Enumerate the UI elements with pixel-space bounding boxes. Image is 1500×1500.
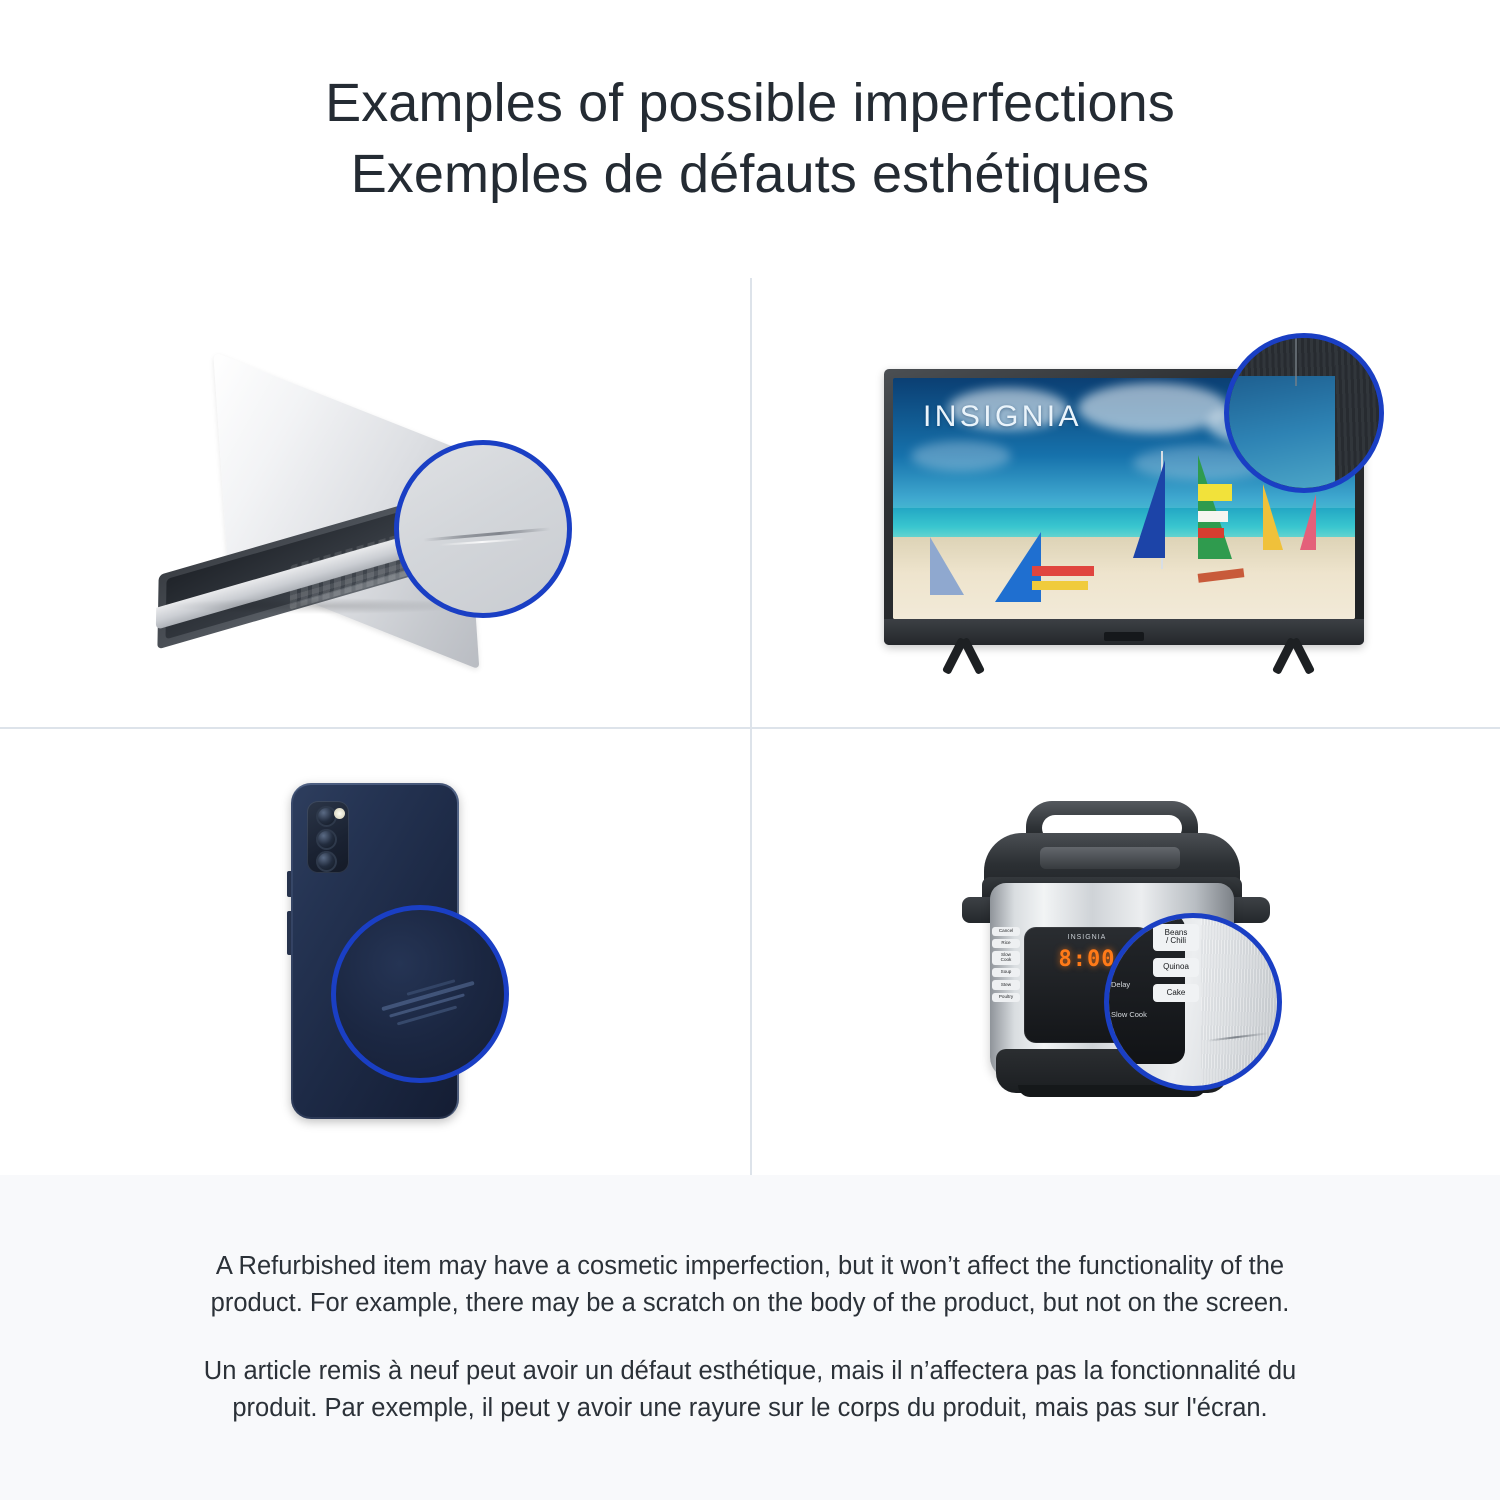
phone-power-button [287,911,291,955]
tv-sailboat-pink [1300,494,1316,550]
tv-illustration: INSIGNIA [876,327,1376,677]
tv-sail-stripe-yellow [1198,484,1232,501]
cooker-button[interactable]: Slow Cook [992,951,1020,965]
tile-laptop [0,278,750,727]
magnifier-circle-phone [331,905,509,1083]
tv-sailboat-blue [1133,460,1165,558]
cooker-button[interactable]: Soup [992,968,1020,977]
phone-scratch-mark [397,1005,457,1025]
footer-paragraph-en: A Refurbished item may have a cosmetic i… [185,1248,1315,1322]
tv-sailboat-green [1198,455,1232,559]
cooker-zoom-button[interactable]: Quinoa [1153,958,1199,977]
cooker-illustration: Cancel Rice Slow Cook Soup Stew Poultry … [956,777,1296,1127]
phone-camera-lens-icon [316,829,337,850]
page-title-en: Examples of possible imperfections [325,68,1175,139]
tile-smartphone [0,727,750,1176]
infographic-page: Examples of possible imperfections Exemp… [0,0,1500,1500]
magnifier-circle-cooker: Delay Slow Cook Beans / Chili Quinoa Cak… [1104,913,1282,1091]
phone-camera-lens-icon [316,851,337,872]
phone-illustration [225,777,525,1127]
phone-camera-module [307,801,349,873]
cooker-zoom-button[interactable]: Cake [1153,984,1199,1003]
header: Examples of possible imperfections Exemp… [0,0,1500,278]
phone-flash-icon [334,808,345,819]
cooker-left-button-column: Cancel Rice Slow Cook Soup Stew Poultry [992,927,1020,1002]
laptop-shadow [170,598,470,614]
cooker-zoom-side-label: Delay [1111,980,1130,989]
cooker-zoom-button[interactable]: Beans / Chili [1153,924,1199,951]
cooker-button[interactable]: Cancel [992,927,1020,936]
tv-kite-grey [930,537,964,595]
cooker-lid-vent [1040,847,1180,869]
cooker-zoom-button-column: Beans / Chili Quinoa Cake [1153,924,1199,1003]
magnifier-circle-tv [1224,333,1384,493]
tv-bezel-scuff-mark [1295,333,1297,386]
tile-pressure-cooker: Cancel Rice Slow Cook Soup Stew Poultry … [750,727,1500,1176]
tv-logo-nub-icon [1104,632,1144,641]
tv-sailboat-yellow [1263,484,1283,550]
page-title-fr: Exemples de défauts esthétiques [351,139,1150,210]
tv-brand-logo: INSIGNIA [923,400,1082,434]
tv-sail-stripe-white [1198,511,1228,522]
laptop-illustration [140,352,610,652]
tv-leg-right [1254,637,1330,673]
magnifier-circle-laptop [394,440,572,618]
tv-cloud [1078,383,1228,433]
tv-zoom-screen [1224,372,1349,493]
tv-kite-stripe-red [1032,566,1094,576]
cooker-button[interactable]: Rice [992,939,1020,948]
tv-leg-left [924,637,1000,673]
cooker-button[interactable]: Stew [992,980,1020,989]
phone-volume-button [287,871,291,897]
tv-sail-stripe-red [1198,528,1224,538]
cooker-zoom-side-label: Slow Cook [1111,1010,1147,1019]
product-grid: INSIGNIA [0,278,1500,1175]
tv-cloud [911,441,1011,471]
laptop-scratch-highlight [439,538,525,546]
tv-kite-stripe-yellow [1032,581,1088,590]
tile-television: INSIGNIA [750,278,1500,727]
tv-zoom-side-bezel [1335,333,1384,493]
footer-paragraph-fr: Un article remis à neuf peut avoir un dé… [185,1353,1315,1427]
footer: A Refurbished item may have a cosmetic i… [0,1175,1500,1500]
cooker-button[interactable]: Poultry [992,993,1020,1002]
cooker-brushed-steel-texture [1201,918,1282,1091]
